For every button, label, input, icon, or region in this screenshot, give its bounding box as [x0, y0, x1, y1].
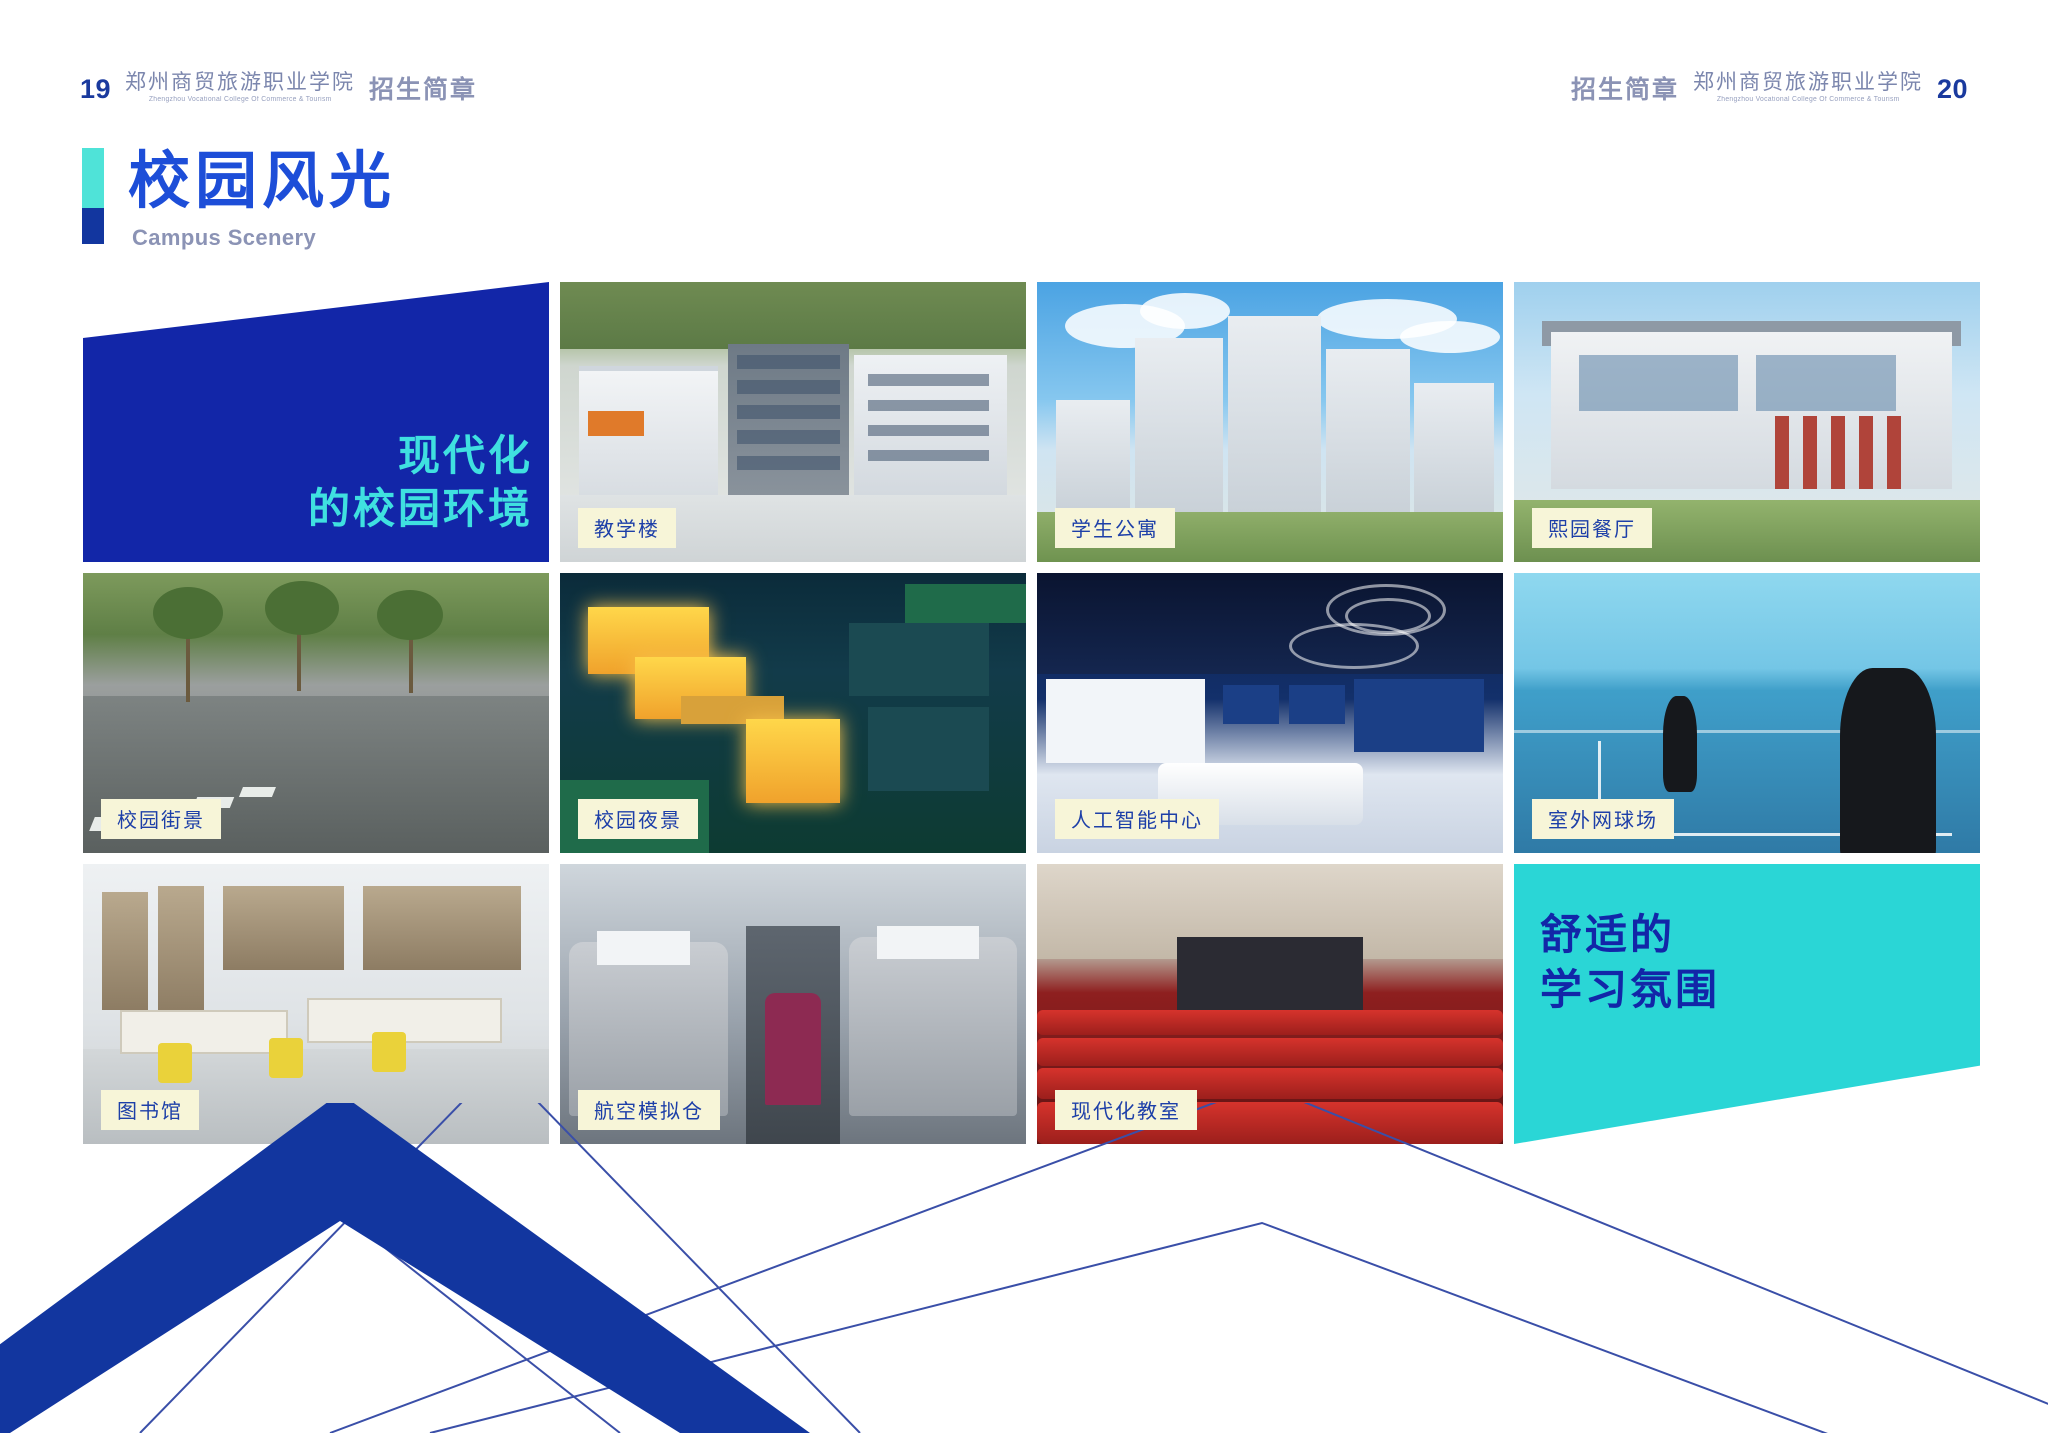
university-logo-right: 郑州商贸旅游职业学院 Zhengzhou Vocational College … — [1693, 72, 1923, 103]
cyan-banner: 舒适的 学习氛围 — [1514, 864, 1980, 1144]
footer-chevron-decoration — [0, 1103, 2048, 1433]
university-name-cn-left: 郑州商贸旅游职业学院 — [125, 72, 355, 93]
title-accent-top — [82, 148, 104, 208]
orange-facade-accent — [588, 411, 644, 436]
photo-campus-night-view[interactable]: 校园夜景 — [560, 573, 1026, 853]
title-accent-bar — [82, 148, 104, 244]
photo-student-dormitory[interactable]: 学生公寓 — [1037, 282, 1503, 562]
page-number-left: 19 — [80, 76, 111, 103]
photo-campus-street[interactable]: 校园街景 — [83, 573, 549, 853]
university-name-en-right: Zhengzhou Vocational College Of Commerce… — [1717, 96, 1900, 103]
photo-caption: 现代化教室 — [1055, 1090, 1197, 1130]
photo-caption: 教学楼 — [578, 508, 676, 548]
hillside — [560, 282, 1026, 349]
campus-photo-gallery: 现代化 的校园环境 — [83, 282, 1988, 1155]
cyan-banner-line2: 学习氛围 — [1540, 963, 1720, 1018]
banner-comfortable-study: 舒适的 学习氛围 — [1514, 864, 1980, 1144]
page-title: 校园风光 Campus Scenery — [82, 148, 396, 251]
banner-modern-campus: 现代化 的校园环境 — [83, 282, 549, 562]
blue-banner-line2: 的校园环境 — [308, 482, 533, 536]
photo-caption: 图书馆 — [101, 1090, 199, 1130]
photo-ai-center[interactable]: 人工智能中心 — [1037, 573, 1503, 853]
photo-xiyuan-canteen[interactable]: 熙园餐厅 — [1514, 282, 1980, 562]
brochure-label-left: 招生简章 — [369, 78, 477, 103]
photo-caption: 熙园餐厅 — [1532, 508, 1652, 548]
gallery-row-3: 图书馆 航空模拟仓 现代化教室 — [83, 864, 1988, 1144]
university-name-en-left: Zhengzhou Vocational College Of Commerce… — [149, 96, 332, 103]
cyan-banner-text: 舒适的 学习氛围 — [1540, 908, 1720, 1017]
section-title-en: Campus Scenery — [132, 225, 396, 251]
cyan-banner-line1: 舒适的 — [1540, 908, 1720, 963]
photo-caption: 校园街景 — [101, 799, 221, 839]
header-right: 招生简章 郑州商贸旅游职业学院 Zhengzhou Vocational Col… — [1571, 72, 1968, 103]
gallery-row-1: 现代化 的校园环境 — [83, 282, 1988, 562]
university-name-cn-right: 郑州商贸旅游职业学院 — [1693, 72, 1923, 93]
photo-outdoor-tennis-court[interactable]: 室外网球场 — [1514, 573, 1980, 853]
blue-banner: 现代化 的校园环境 — [83, 282, 549, 562]
photo-caption: 室外网球场 — [1532, 799, 1674, 839]
gallery-row-2: 校园街景 校园夜景 — [83, 573, 1988, 853]
title-text-group: 校园风光 Campus Scenery — [128, 148, 396, 251]
page-number-right: 20 — [1937, 76, 1968, 103]
photo-caption: 校园夜景 — [578, 799, 698, 839]
chevron-solid-blue — [0, 1103, 810, 1433]
blue-banner-text: 现代化 的校园环境 — [308, 429, 533, 537]
photo-caption: 航空模拟仓 — [578, 1090, 720, 1130]
stage-screen — [1177, 937, 1363, 1010]
page-header: 19 郑州商贸旅游职业学院 Zhengzhou Vocational Colle… — [0, 0, 2048, 120]
photo-aviation-simulation-cabin[interactable]: 航空模拟仓 — [560, 864, 1026, 1144]
title-accent-bottom — [82, 208, 104, 244]
university-logo-left: 郑州商贸旅游职业学院 Zhengzhou Vocational College … — [125, 72, 355, 103]
photo-library[interactable]: 图书馆 — [83, 864, 549, 1144]
photo-caption: 人工智能中心 — [1055, 799, 1219, 839]
section-title-cn: 校园风光 — [128, 148, 396, 215]
photo-caption: 学生公寓 — [1055, 508, 1175, 548]
photo-teaching-building[interactable]: 教学楼 — [560, 282, 1026, 562]
header-left: 19 郑州商贸旅游职业学院 Zhengzhou Vocational Colle… — [80, 72, 477, 103]
photo-modern-classroom[interactable]: 现代化教室 — [1037, 864, 1503, 1144]
brochure-label-right: 招生简章 — [1571, 78, 1679, 103]
blue-banner-line1: 现代化 — [308, 429, 533, 483]
